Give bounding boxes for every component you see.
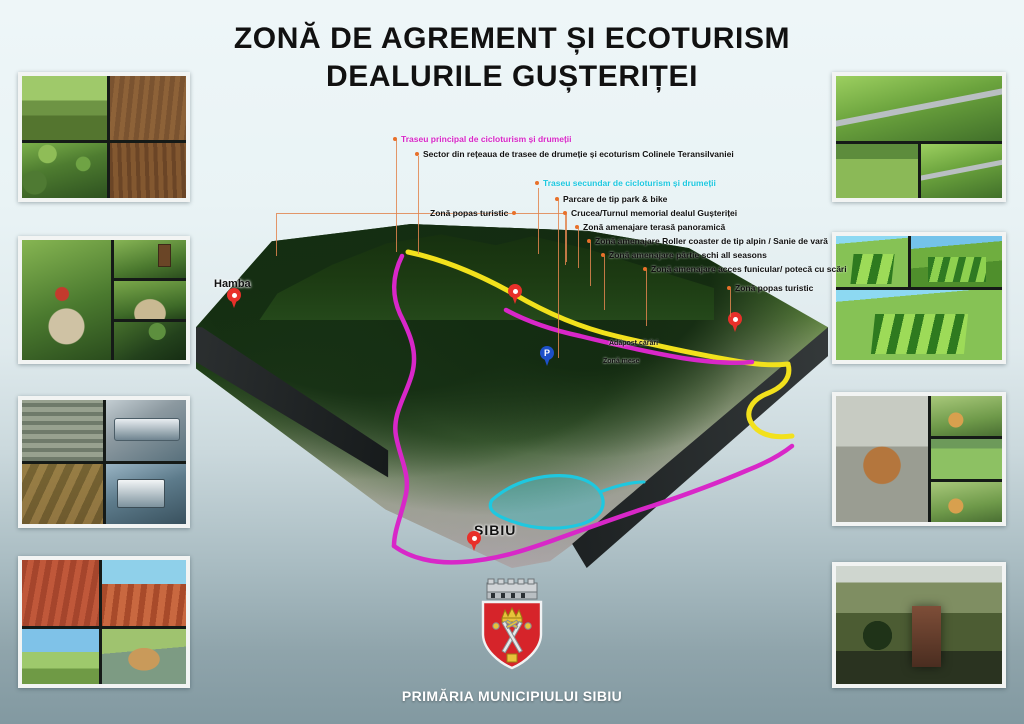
trail-secundar-branch — [600, 482, 644, 492]
leader-parcare — [558, 200, 559, 358]
leader-coaster — [590, 242, 591, 286]
map-pin-sibiu[interactable] — [467, 531, 481, 551]
leader-traseu-principal — [396, 140, 397, 252]
page-title: ZONĂ DE AGREMENT ȘI ECOTURISM DEALURILE … — [0, 20, 1024, 96]
trail-sector-colinele-end — [749, 364, 792, 437]
leader-crucea — [566, 214, 567, 262]
photo-mese-banci — [110, 143, 186, 198]
callout-traseu-secundar[interactable]: Traseu secundar de cicloturism și drumeț… — [535, 178, 716, 188]
photo-panel-tower — [832, 562, 1006, 688]
callout-bullet-icon — [575, 225, 579, 229]
photo-panel-terrace — [18, 556, 190, 688]
callout-popas-turistic-stanga[interactable]: Zonă popas turistic — [430, 208, 516, 218]
trail-principal-west — [394, 256, 414, 546]
callout-label: Zonă popas turistic — [735, 283, 813, 293]
callout-bullet-icon — [535, 181, 539, 185]
callout-label: Traseu principal de cicloturism și drume… — [401, 134, 572, 144]
callout-bullet-icon — [415, 152, 419, 156]
callout-partie-schi[interactable]: Zonă amenajare pârtie schi all seasons — [601, 250, 767, 260]
callout-bullet-icon — [727, 286, 731, 290]
photo-panou-informativ — [114, 322, 186, 360]
leader-popas-stanga-drop — [276, 214, 277, 256]
callout-label: Zonă amenajare terasă panoramică — [583, 222, 725, 232]
leader-partie — [604, 256, 605, 310]
photo-copil-partie — [836, 236, 908, 287]
callout-bullet-icon — [587, 239, 591, 243]
photo-cabina-funicular — [106, 464, 187, 525]
callout-label: Sector din rețeaua de trasee de drumeție… — [423, 149, 734, 159]
callout-popas-turistic-dreapta[interactable]: Zonă popas turistic — [727, 283, 813, 293]
trail-overlay — [196, 224, 828, 568]
photo-turn-memorial — [836, 566, 1002, 684]
leader-popas-stanga-h — [511, 213, 565, 214]
photo-pasarela-lemn — [22, 464, 103, 525]
photo-poteci-scari — [22, 400, 103, 461]
poster-canvas: ZONĂ DE AGREMENT ȘI ECOTURISM DEALURILE … — [0, 0, 1024, 724]
photo-marcaj-traseu — [114, 240, 186, 278]
photo-ciclist-traseu — [22, 240, 111, 360]
callout-label: Zonă amenajare Roller coaster de tip alp… — [595, 236, 828, 246]
map-pin-parcare[interactable]: P — [540, 346, 554, 366]
sibiu-coat-of-arms — [476, 578, 548, 670]
leader-popas-dreapta — [730, 289, 731, 317]
photo-panel-cycling — [18, 236, 190, 364]
callout-bullet-icon — [643, 267, 647, 271]
title-line-1: ZONĂ DE AGREMENT ȘI ECOTURISM — [0, 20, 1024, 58]
map-label-zona-mese: Zonă mese — [603, 358, 640, 365]
photo-joaca-nisip — [931, 482, 1002, 522]
footer: PRIMĂRIA MUNICIPIULUI SIBIU — [0, 688, 1024, 704]
photo-partie-aeriana — [836, 290, 1002, 360]
leader-traseu-secundar — [538, 188, 539, 254]
leader-terasa — [578, 228, 579, 268]
callout-bullet-icon — [393, 137, 397, 141]
photo-poteca-padure — [114, 281, 186, 319]
callout-bullet-icon — [563, 211, 567, 215]
terrain-3d-map[interactable]: P — [196, 224, 828, 568]
callout-parcare-park-bike[interactable]: Parcare de tip park & bike — [555, 194, 667, 204]
photo-sanie-panta — [836, 144, 918, 198]
shield-base-ornament — [507, 654, 517, 662]
mural-crown-icon — [487, 579, 537, 599]
callout-bullet-icon — [512, 211, 516, 215]
photo-echipamente-joaca — [931, 396, 1002, 436]
callout-crucea-turnul[interactable]: Crucea/Turnul memorial dealul Gușteriței — [563, 208, 737, 218]
callout-label: Parcare de tip park & bike — [563, 194, 667, 204]
leader-funicular — [646, 270, 647, 326]
photo-deck-panoramic — [102, 560, 186, 626]
leader-sector-colinele — [418, 156, 419, 254]
photo-panel-playground — [832, 392, 1006, 526]
photo-panel-ski — [832, 232, 1006, 364]
photo-vizitator-sanie — [921, 144, 1003, 198]
callout-label: Crucea/Turnul memorial dealul Gușteriței — [571, 208, 737, 218]
photo-joaca-apa — [836, 396, 928, 522]
map-pin-crucea-turnul[interactable] — [508, 284, 522, 304]
map-label-adapost: Adăpost cărări — [609, 340, 658, 347]
photo-statie-funicular — [106, 400, 187, 461]
callout-roller-coaster[interactable]: Zonă amenajare Roller coaster de tip alp… — [587, 236, 828, 246]
photo-parc-verde — [931, 439, 1002, 479]
photo-terasa-priveliste — [22, 629, 99, 684]
callout-traseu-principal[interactable]: Traseu principal de cicloturism și drume… — [393, 134, 572, 144]
callout-label: Zonă popas turistic — [430, 208, 508, 218]
footer-text: PRIMĂRIA MUNICIPIULUI SIBIU — [0, 688, 1024, 704]
callout-label: Zonă amenajare acces funicular/ potecă c… — [651, 264, 847, 274]
photo-partie-sintetica — [911, 236, 1002, 287]
callout-acces-funicular[interactable]: Zonă amenajare acces funicular/ potecă c… — [643, 264, 847, 274]
inner-crown-icon — [502, 608, 522, 622]
callout-terasa-panoramica[interactable]: Zonă amenajare terasă panoramică — [575, 222, 725, 232]
map-pin-hamba[interactable] — [227, 288, 241, 308]
callout-bullet-icon — [601, 253, 605, 257]
callout-bullet-icon — [555, 197, 559, 201]
photo-terasa-balustrada — [22, 560, 99, 626]
title-line-2: DEALURILE GUȘTERIȚEI — [0, 58, 1024, 96]
photo-umbrar-colorat — [22, 143, 107, 198]
photo-panel-funicular — [18, 396, 190, 528]
callout-label: Traseu secundar de cicloturism și drumeț… — [543, 178, 716, 188]
callout-sector-colinele[interactable]: Sector din rețeaua de trasee de drumeție… — [415, 149, 734, 159]
photo-masa-terasa — [102, 629, 186, 684]
callout-label: Zonă amenajare pârtie schi all seasons — [609, 250, 767, 260]
trail-secundar-lake-loop — [490, 476, 603, 529]
